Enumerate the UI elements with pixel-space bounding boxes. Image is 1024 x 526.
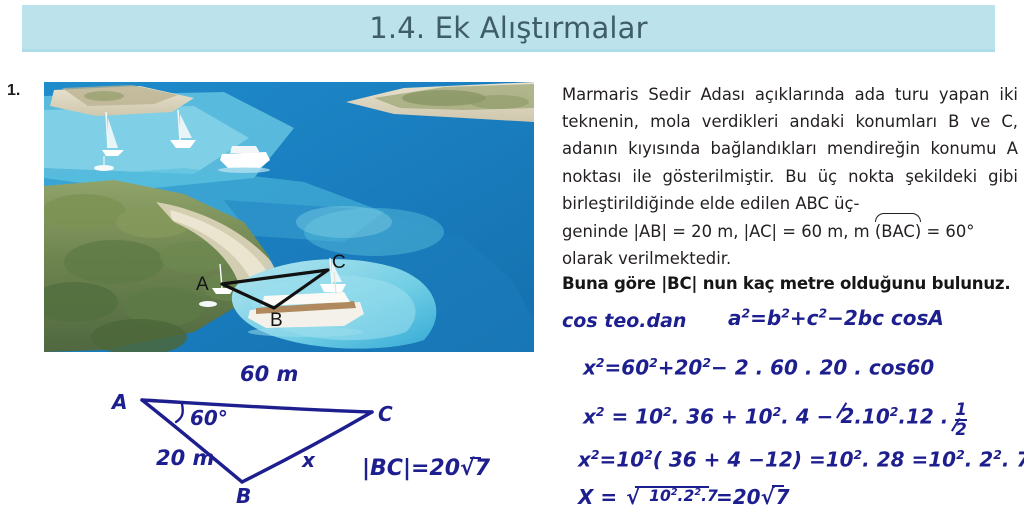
measure-suffix: ) = 60° [915,222,975,241]
paragraph-line-1: Marmaris Sedir Adası açıklarında ada tur… [562,85,989,104]
solution-line2: x2=602+202− 2 . 60 . 20 . cos60 [583,355,934,380]
formula-lhs: a2 [728,306,750,330]
cancelled-two-icon: 2 [840,404,854,428]
diagram-side-ab-length: 20 m [156,446,214,470]
solution-line1-formula: a2=b2+c2−2bc cosA [728,305,944,330]
photo-label-b: B [270,310,283,332]
paragraph-last-line: olarak verilmektedir. [562,249,731,268]
solution-line4: x2=102( 36 + 4 −12) =102. 28 =102. 22. 7 [578,447,1024,472]
triangle-sketch [90,360,530,520]
one-half-fraction: 12 [955,402,966,438]
banner-underline [22,49,995,52]
question-prompt: Buna göre |BC| nun kaç metre olduğunu bu… [562,274,1024,293]
diagram-vertex-c: C [378,402,393,426]
angle-label: BAC [881,222,915,241]
diagram-side-ac-length: 60 m [240,362,298,386]
bay-photograph: A B C [44,82,534,352]
solution-line5: X = √102.22.710².2².7 =20√7 [578,485,790,509]
hand-drawn-triangle-diagram: A C B 60 m 20 m x 60° |BC|=20√7 [90,360,530,520]
solution-line1-label: cos teo.dan [562,310,686,332]
page-title: 1.4. Ek Alıştırmalar [369,14,648,43]
question-number: 1. [7,82,20,100]
solution-line3: x2 = 102. 36 + 102. 4 − 2.102.12 . 12 [583,400,967,436]
question-paragraph: Marmaris Sedir Adası açıklarında ada tur… [562,81,1018,272]
page-header-banner: 1.4. Ek Alıştırmalar [22,5,995,52]
formula-rhs: =b2+c2−2bc cosA [750,306,944,330]
diagram-answer: |BC|=20√7 [362,456,490,481]
radical-icon: √102.22.710².2².7 [624,485,709,509]
measure-prefix: geninde |AB| = 20 m, |AC| = 60 m, m ( [562,222,881,241]
arc-icon [875,213,921,222]
measure-line: geninde |AB| = 20 m, |AC| = 60 m, m (BAC… [562,217,1018,245]
diagram-vertex-a: A [112,390,127,414]
photo-label-c: C [332,252,346,274]
diagram-side-bc-label: x [302,448,315,472]
photo-illustration [44,82,534,352]
angle-notation: BAC [881,217,915,245]
diagram-angle-label: 60° [190,406,228,430]
photo-label-a: A [196,274,209,296]
dinghy [199,301,217,307]
diagram-vertex-b: B [236,484,251,508]
